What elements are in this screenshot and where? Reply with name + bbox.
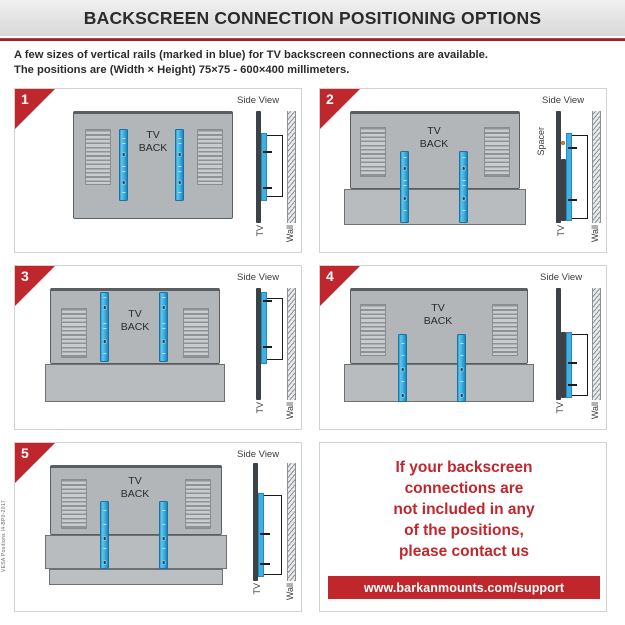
rail-hole-icon — [177, 152, 182, 157]
vent-left-icon — [360, 304, 386, 356]
contact-message: If your backscreen connections are not i… — [328, 457, 600, 562]
side-label-wall: Wall — [285, 225, 295, 242]
option-panel-5[interactable]: 5 TV BACK Side View — [14, 442, 302, 612]
side-arm-bottom — [263, 346, 272, 348]
side-arm-top — [260, 533, 270, 535]
panel-number-2: 2 — [326, 91, 334, 107]
rail-hole-icon — [102, 560, 107, 565]
tv-back-label: TV BACK — [410, 302, 466, 327]
infographic-page: BACKSCREEN CONNECTION POSITIONING OPTION… — [0, 0, 625, 625]
rail-hole-icon — [177, 180, 182, 185]
rail-left — [398, 334, 407, 402]
rail-hole-icon — [461, 166, 466, 171]
vent-left-icon — [85, 129, 111, 185]
tv-stand-base — [344, 189, 526, 225]
panel-number-4: 4 — [326, 268, 334, 284]
rail-left — [400, 151, 409, 223]
side-wall — [287, 288, 296, 400]
side-arm-top — [568, 362, 577, 364]
rail-hole-icon — [102, 536, 107, 541]
support-url-button[interactable]: www.barkanmounts.com/support — [328, 576, 600, 599]
rail-hole-icon — [121, 152, 126, 157]
option-panel-1[interactable]: 1 TV BACK Side View — [14, 88, 302, 253]
side-view-title: Side View — [540, 272, 582, 283]
tv-back-label: TV BACK — [406, 125, 462, 150]
rail-left — [100, 292, 109, 362]
side-arm-bottom — [260, 563, 270, 565]
side-label-tv: TV — [255, 225, 265, 237]
rail-left — [100, 501, 109, 569]
tv-stand-base — [45, 364, 225, 402]
rail-right — [159, 292, 168, 362]
page-header: BACKSCREEN CONNECTION POSITIONING OPTION… — [0, 0, 625, 38]
side-label-spacer: Spacer — [536, 127, 546, 156]
side-view-title: Side View — [542, 95, 584, 106]
diagram-2: TV BACK Side View Spacer T — [320, 89, 606, 252]
option-panel-3[interactable]: 3 TV BACK Side View — [14, 265, 302, 430]
rail-hole-icon — [461, 196, 466, 201]
vent-right-icon — [492, 304, 518, 356]
tv-back-label: TV BACK — [107, 475, 163, 500]
side-bracket — [267, 298, 283, 360]
panel-number-3: 3 — [21, 268, 29, 284]
vent-right-icon — [183, 308, 209, 358]
rail-hole-icon — [161, 305, 166, 310]
side-arm-top — [568, 147, 577, 149]
diagram-3: TV BACK Side View TV Wall — [15, 266, 301, 429]
rail-hole-icon — [400, 367, 405, 372]
diagram-5: TV BACK Side View TV Wall — [15, 443, 301, 611]
contact-panel[interactable]: If your backscreen connections are not i… — [319, 442, 607, 612]
diagram-1: TV BACK Side View — [15, 89, 301, 252]
option-panel-2[interactable]: 2 TV BACK Side View — [319, 88, 607, 253]
vent-right-icon — [185, 479, 211, 529]
tv-stand-foot — [49, 569, 223, 585]
tv-stand-base — [45, 535, 227, 569]
side-label-tv: TV — [556, 225, 566, 237]
side-label-tv: TV — [555, 402, 565, 414]
rail-hole-icon — [102, 339, 107, 344]
option-panel-4[interactable]: 4 TV BACK Side View — [319, 265, 607, 430]
header-divider — [0, 38, 625, 41]
vent-left-icon — [61, 479, 87, 529]
side-reference-code: VESA Positions I4-BP0-2017 — [1, 500, 7, 572]
vent-right-icon — [484, 127, 510, 177]
side-view-title: Side View — [237, 272, 279, 283]
side-view-title: Side View — [237, 95, 279, 106]
rail-hole-icon — [161, 536, 166, 541]
side-arm-bottom — [568, 199, 577, 201]
page-title: BACKSCREEN CONNECTION POSITIONING OPTION… — [84, 8, 541, 29]
side-arm-bottom — [568, 384, 577, 386]
rail-hole-icon — [400, 393, 405, 398]
side-wall — [592, 111, 601, 223]
side-label-wall: Wall — [285, 402, 295, 419]
side-tv-lower — [561, 332, 566, 398]
spacer-marker-icon — [561, 141, 565, 145]
rail-hole-icon — [161, 560, 166, 565]
side-label-tv: TV — [252, 583, 262, 595]
diagram-4: TV BACK Side View TV Wall — [320, 266, 606, 429]
rail-hole-icon — [161, 339, 166, 344]
side-arm-top — [263, 300, 272, 302]
rail-right — [459, 151, 468, 223]
rail-hole-icon — [121, 180, 126, 185]
side-label-wall: Wall — [590, 402, 600, 419]
subtitle-line-1: A few sizes of vertical rails (marked in… — [14, 48, 614, 63]
rail-hole-icon — [402, 166, 407, 171]
tv-stand-base — [344, 364, 534, 402]
side-label-wall: Wall — [590, 225, 600, 242]
rail-hole-icon — [102, 305, 107, 310]
panel-number-5: 5 — [21, 445, 29, 461]
rail-hole-icon — [402, 196, 407, 201]
side-label-tv: TV — [255, 402, 265, 414]
subtitle-line-2: The positions are (Width × Height) 75×75… — [14, 63, 614, 78]
tv-back-label: TV BACK — [125, 129, 181, 154]
rail-hole-icon — [459, 393, 464, 398]
side-tv-lower — [561, 159, 566, 221]
rail-right — [457, 334, 466, 402]
side-wall — [592, 288, 601, 400]
support-url-label: www.barkanmounts.com/support — [364, 581, 564, 595]
rail-left — [119, 129, 128, 201]
rail-hole-icon — [459, 367, 464, 372]
side-arm-bottom — [263, 187, 272, 189]
side-bracket — [572, 334, 588, 396]
vent-right-icon — [197, 129, 223, 185]
subtitle-block: A few sizes of vertical rails (marked in… — [14, 48, 614, 77]
side-wall — [287, 111, 296, 223]
rail-right — [159, 501, 168, 569]
side-wall — [287, 463, 296, 581]
tv-back-label: TV BACK — [107, 308, 163, 333]
side-view-title: Side View — [237, 449, 279, 460]
side-arm-top — [263, 151, 272, 153]
rail-right — [175, 129, 184, 201]
vent-left-icon — [61, 308, 87, 358]
side-label-wall: Wall — [285, 583, 295, 600]
panel-number-1: 1 — [21, 91, 29, 107]
vent-left-icon — [360, 127, 386, 177]
